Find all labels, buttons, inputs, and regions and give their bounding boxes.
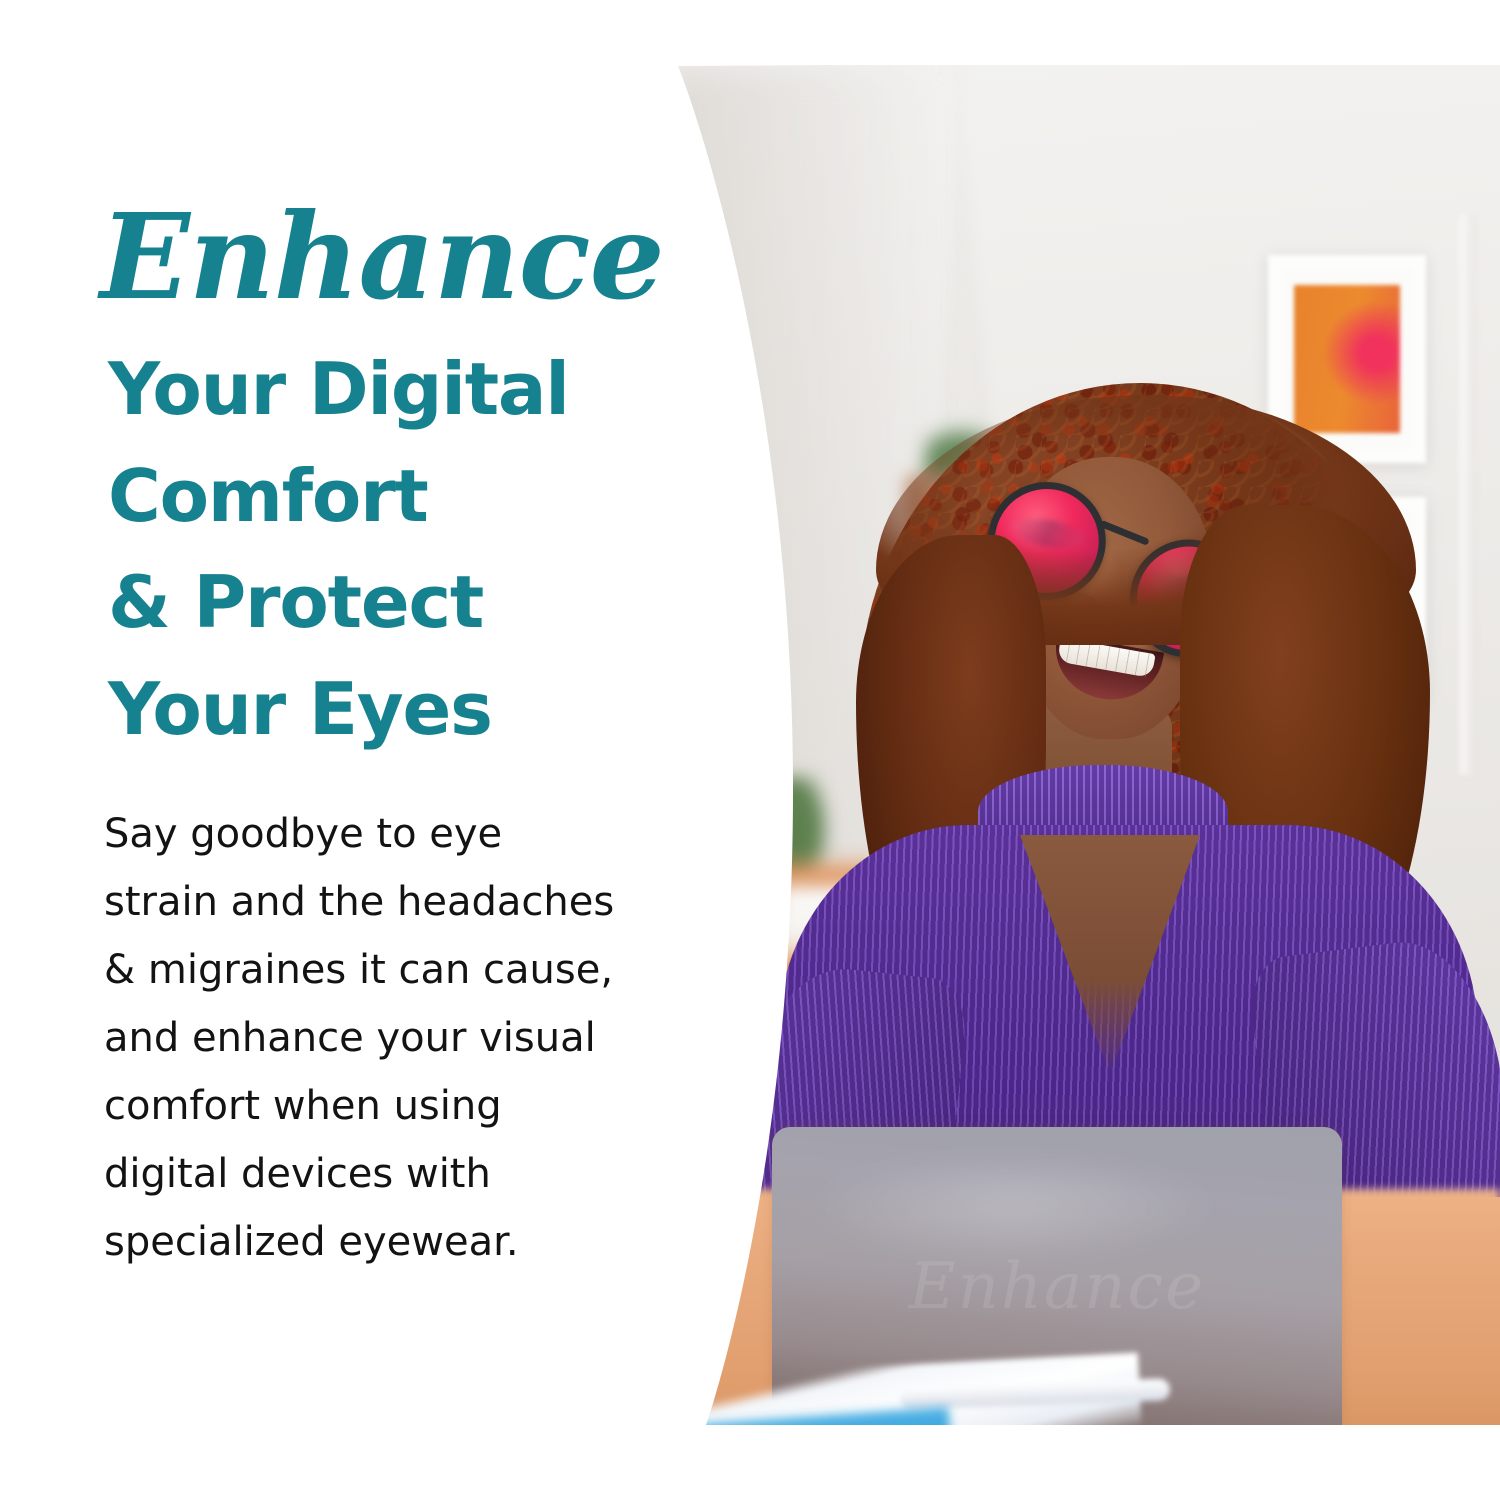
headline-line: Comfort [108,443,688,550]
text-panel: Enhance Your Digital Comfort & Protect Y… [0,0,700,1500]
headline-script-word: Enhance [100,198,664,316]
body-line: specialized eyewear. [104,1208,724,1276]
body-line: strain and the headaches [104,868,724,936]
photo-scene: Enhance [660,65,1500,1425]
frame-artwork [1294,285,1400,433]
promo-poster: Enhance Enhance Your Digital Comfort & P… [0,0,1500,1500]
body-line: and enhance your visual [104,1004,724,1072]
body-line: Say goodbye to eye [104,800,724,868]
body-line: comfort when using [104,1072,724,1140]
headline-line: Your Eyes [108,656,688,763]
body-line: digital devices with [104,1140,724,1208]
body-copy: Say goodbye to eye strain and the headac… [104,800,724,1276]
body-line: & migraines it can cause, [104,936,724,1004]
headline: Your Digital Comfort & Protect Your Eyes [108,336,688,762]
wall-edge [1460,215,1476,775]
headline-line: Your Digital [108,336,688,443]
laptop-highlight [806,1153,1216,1262]
headline-line: & Protect [108,549,688,656]
